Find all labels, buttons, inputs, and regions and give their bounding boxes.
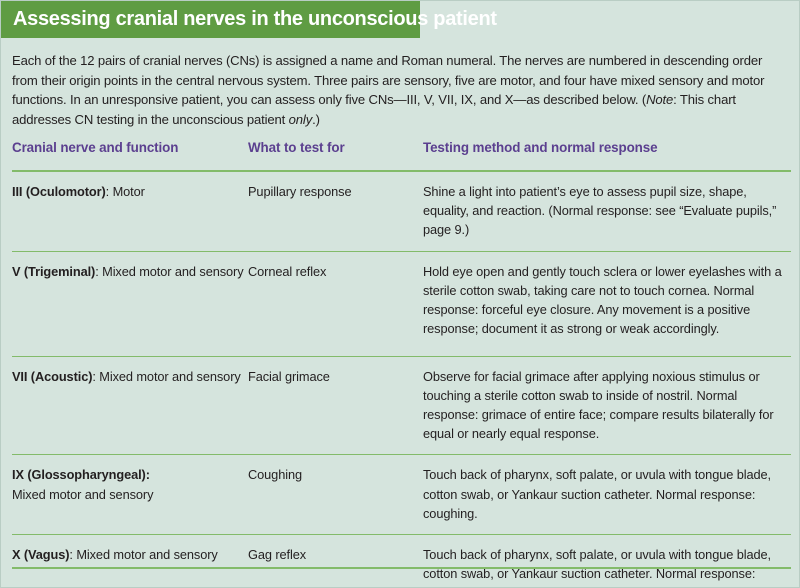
bottom-divider: [12, 567, 791, 569]
table-row: III (Oculomotor): MotorPupillary respons…: [12, 172, 791, 251]
cell-what-to-test-for: Coughing: [248, 465, 420, 484]
table-body: III (Oculomotor): MotorPupillary respons…: [12, 172, 791, 588]
page-title-bar: Assessing cranial nerves in the unconsci…: [1, 1, 420, 38]
column-header-testing-method-and-normal-response: Testing method and normal response: [423, 140, 791, 155]
cell-cranial-nerve-and-function: V (Trigeminal): Mixed motor and sensory: [12, 262, 244, 281]
page-title: Assessing cranial nerves in the unconsci…: [1, 8, 497, 31]
cell-cranial-nerve-and-function: III (Oculomotor): Motor: [12, 182, 244, 201]
cell-what-to-test-for: Gag reflex: [248, 545, 420, 564]
table-row: V (Trigeminal): Mixed motor and sensoryC…: [12, 252, 791, 356]
cell-cranial-nerve-and-function: IX (Glossopharyngeal):Mixed motor and se…: [12, 465, 244, 503]
cell-what-to-test-for: Corneal reflex: [248, 262, 420, 281]
table-row: X (Vagus): Mixed motor and sensoryGag re…: [12, 535, 791, 588]
cranial-nerve-table: Cranial nerve and function What to test …: [12, 140, 791, 588]
table-row: IX (Glossopharyngeal):Mixed motor and se…: [12, 455, 791, 534]
column-header-what-to-test-for: What to test for: [248, 140, 423, 155]
cell-cranial-nerve-and-function: X (Vagus): Mixed motor and sensory: [12, 545, 244, 564]
column-header-cranial-nerve-and-function: Cranial nerve and function: [12, 140, 248, 155]
intro-paragraph: Each of the 12 pairs of cranial nerves (…: [12, 51, 791, 129]
chart-page: Assessing cranial nerves in the unconsci…: [0, 0, 800, 588]
cell-what-to-test-for: Facial grimace: [248, 367, 420, 386]
cell-what-to-test-for: Pupillary response: [248, 182, 420, 201]
cell-cranial-nerve-and-function: VII (Acoustic): Mixed motor and sensory: [12, 367, 244, 386]
table-row: VII (Acoustic): Mixed motor and sensoryF…: [12, 357, 791, 455]
table-header-row: Cranial nerve and function What to test …: [12, 140, 791, 170]
